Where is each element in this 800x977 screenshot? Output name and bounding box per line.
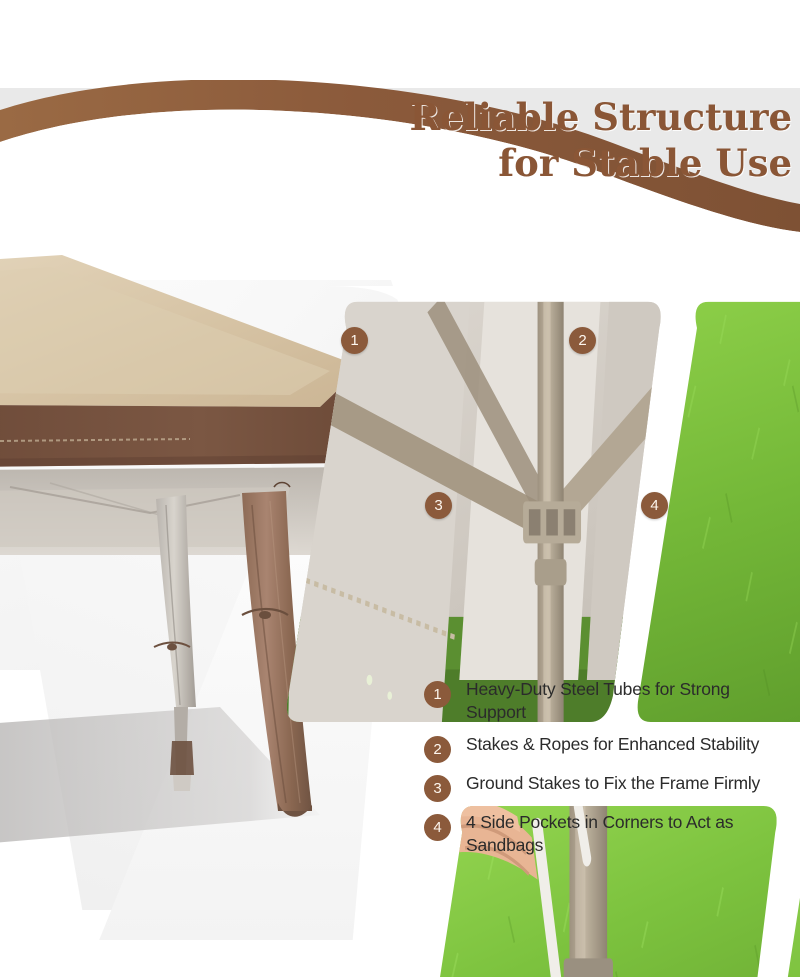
feature-badge-3: 3 [424,775,451,802]
photo-grid [268,286,800,977]
feature-item-4: 4 4 Side Pockets in Corners to Act as Sa… [424,811,794,857]
promo-banner: 1 2 3 4 Reliable Structure for Stable Us… [0,0,800,977]
feature-item-2: 2 Stakes & Ropes for Enhanced Stability [424,733,794,763]
feature-text-4: 4 Side Pockets in Corners to Act as Sand… [466,811,794,857]
headline-line-2: for Stable Use [272,140,792,186]
grid-badge-2: 2 [569,327,596,354]
grid-badge-4: 4 [641,492,668,519]
feature-badge-2: 2 [424,736,451,763]
feature-text-3: Ground Stakes to Fix the Frame Firmly [466,772,760,795]
feature-text-1: Heavy-Duty Steel Tubes for Strong Suppor… [466,678,794,724]
feature-text-2: Stakes & Ropes for Enhanced Stability [466,733,759,756]
headline-line-1: Reliable Structure [410,95,792,139]
page-title: Reliable Structure for Stable Use [272,94,792,186]
grid-badge-1: 1 [341,327,368,354]
feature-item-1: 1 Heavy-Duty Steel Tubes for Strong Supp… [424,678,794,724]
feature-badge-4: 4 [424,814,451,841]
feature-list: 1 Heavy-Duty Steel Tubes for Strong Supp… [424,678,794,866]
feature-badge-1: 1 [424,681,451,708]
grid-badge-3: 3 [425,492,452,519]
feature-item-3: 3 Ground Stakes to Fix the Frame Firmly [424,772,794,802]
